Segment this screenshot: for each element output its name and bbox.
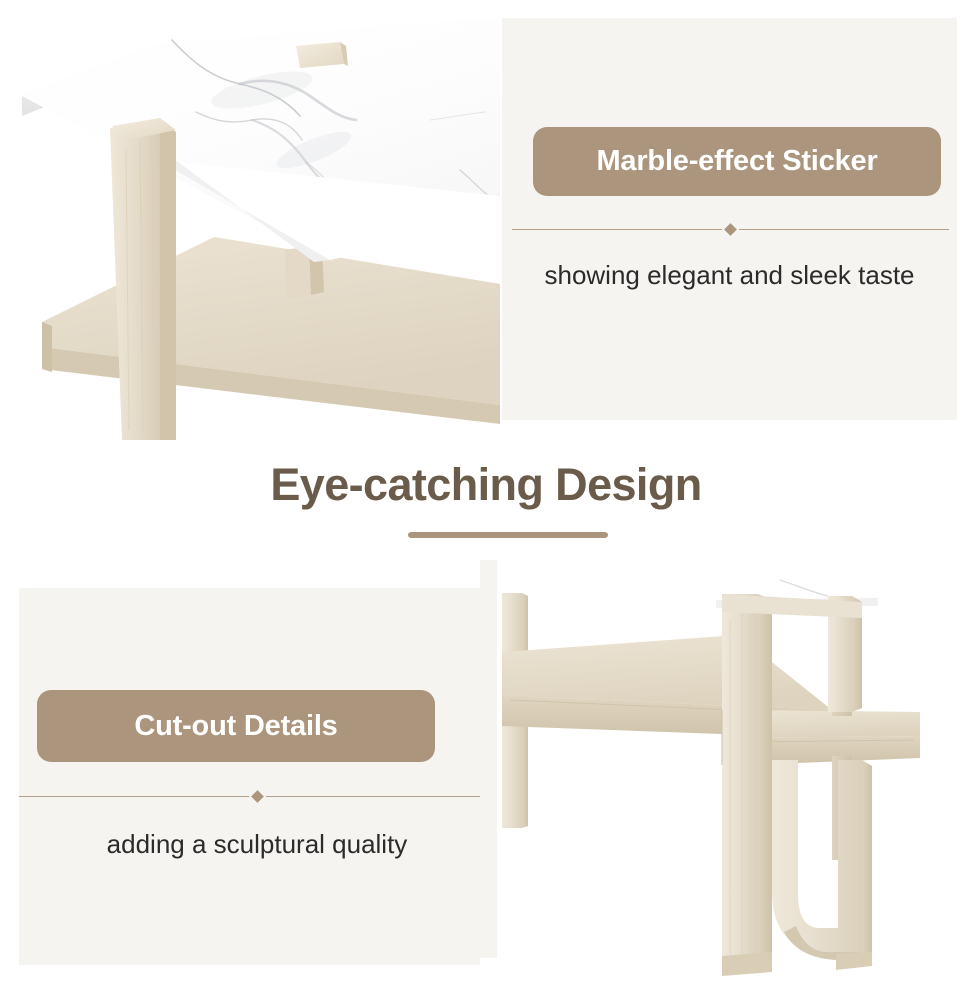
page-title: Eye-catching Design [0,460,972,510]
divider-rule-right [266,796,496,797]
divider-rule-right [739,229,949,230]
section-heading-block: Eye-catching Design [0,460,972,510]
feature-caption-marble: showing elegant and sleek taste [502,261,957,291]
feature-badge-label: Cut-out Details [134,712,337,741]
diamond-icon [251,790,264,803]
heading-underline-bar [408,532,608,538]
feature-divider-marble [512,222,949,236]
feature-badge-label: Marble-effect Sticker [596,147,877,176]
product-photo-cutout-leg [480,560,972,990]
feature-panel-marble [502,18,957,420]
divider-rule-left [512,229,722,230]
product-feature-infographic: Marble-effect Sticker showing elegant an… [0,0,972,990]
feature-panel-cutout [19,588,495,965]
feature-badge-marble: Marble-effect Sticker [533,127,941,196]
feature-badge-cutout: Cut-out Details [37,690,435,762]
product-photo-marble-top [0,0,500,440]
feature-divider-cutout [19,789,495,803]
feature-caption-cutout: adding a sculptural quality [19,830,495,860]
divider-rule-left [19,796,249,797]
diamond-icon [724,223,737,236]
